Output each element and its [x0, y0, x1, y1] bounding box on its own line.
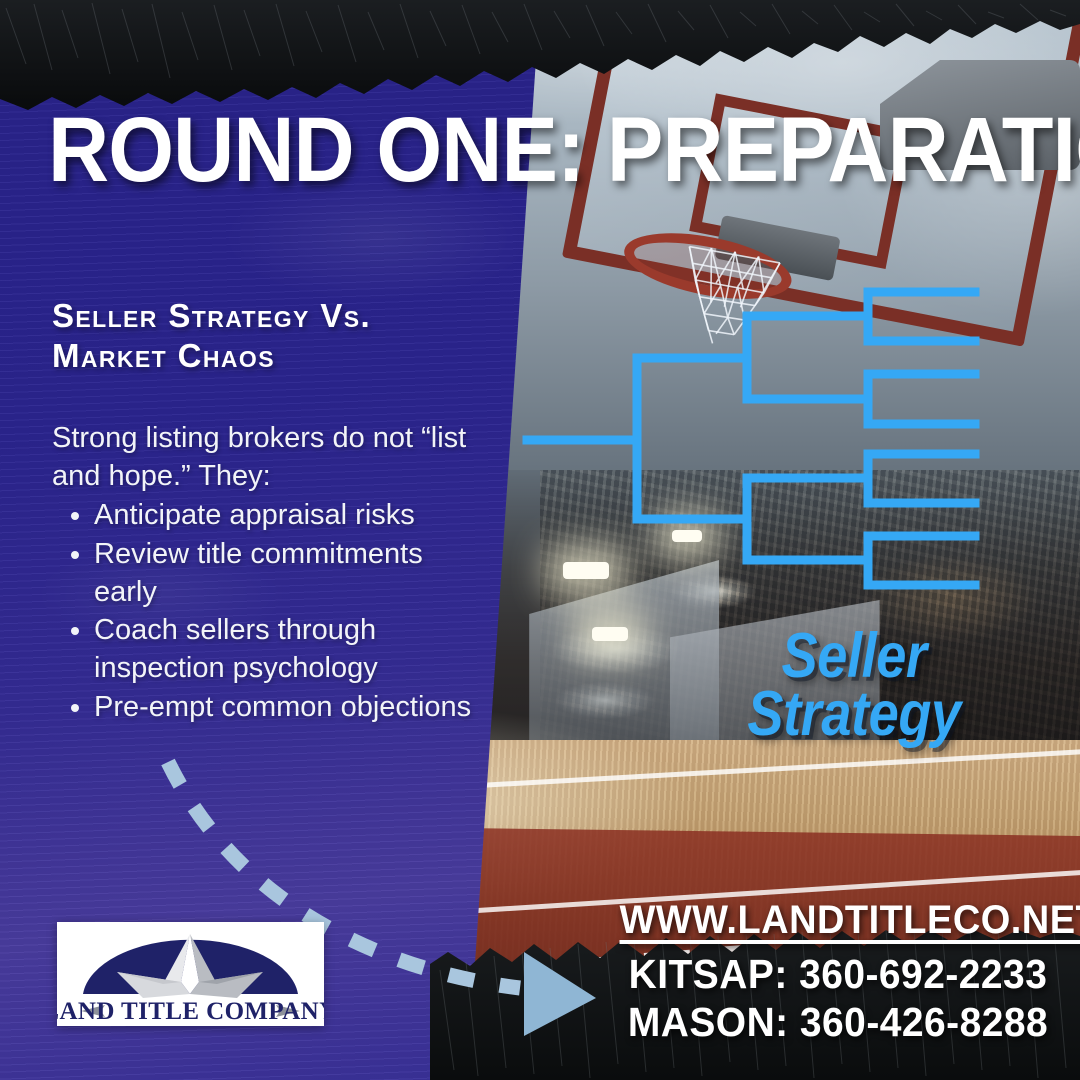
phone-mason[interactable]: MASON: 360-426-8288 [620, 998, 1057, 1046]
logo-wordmark: LAND TITLE COMPANY [57, 998, 324, 1025]
contact-block: WWW.LANDTITLECO.NET KITSAP: 360-692-2233… [608, 898, 1068, 1047]
land-title-company-logo-mark: LAND TITLE COMPANY [57, 922, 324, 1026]
poster-canvas: ROUND ONE: PREPARATION Seller Strategy v… [0, 0, 1080, 1080]
phone-kitsap[interactable]: KITSAP: 360-692-2233 [620, 950, 1057, 998]
arrow-head-triangle [524, 952, 596, 1036]
website-link[interactable]: WWW.LANDTITLECO.NET [620, 898, 1057, 943]
company-logo: LAND TITLE COMPANY [57, 922, 324, 1026]
